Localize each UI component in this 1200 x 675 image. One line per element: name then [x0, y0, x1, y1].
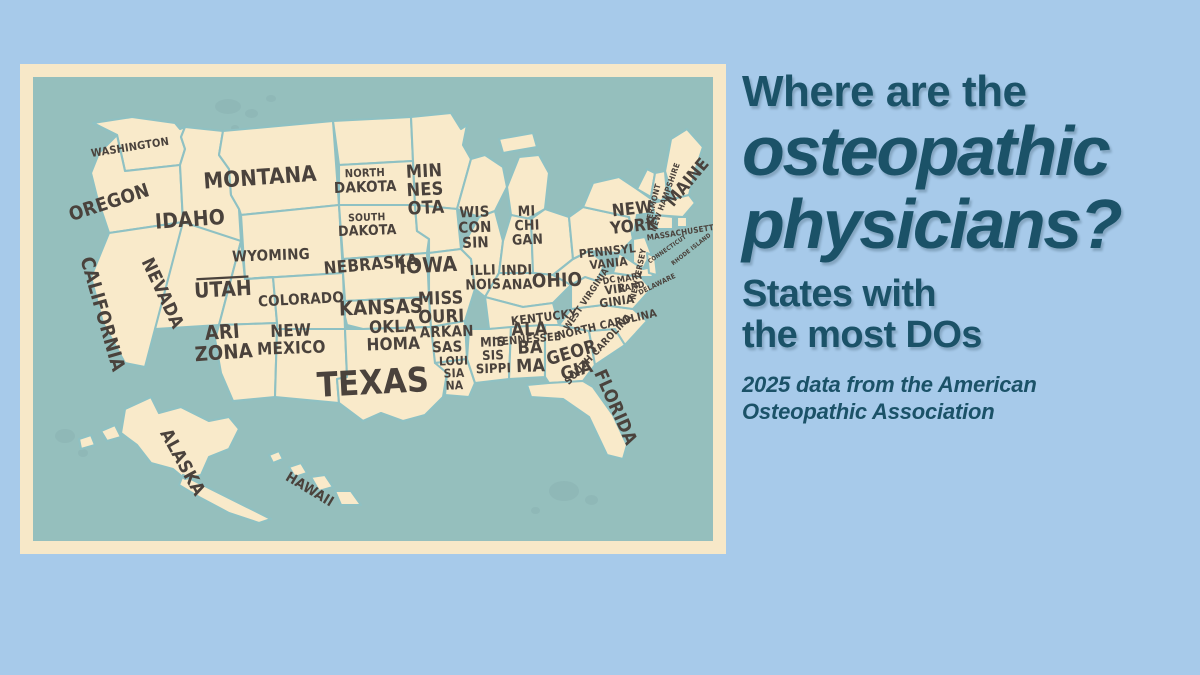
state-label-text: NA [445, 378, 464, 393]
state-label-hawaii: HAWAII [283, 469, 337, 510]
state-label-text: ZONA [194, 338, 254, 366]
state-label-text: OTA [407, 197, 445, 220]
state-label-text: NOIS [465, 276, 501, 293]
credit-line-2: Osteopathic Association [742, 398, 1194, 426]
credit-line-1: 2025 data from the American [742, 371, 1194, 399]
subtitle-line-1: States with [742, 274, 1194, 314]
state-label-idaho: IDAHO [154, 205, 226, 234]
state-label-text: DAKOTA [334, 177, 398, 197]
state-label-text: MA [516, 355, 546, 377]
state-label-minnesota: MINNESOTA [405, 160, 445, 220]
state-label-utah: UTAH [194, 276, 253, 303]
state-label-text: OHIO [531, 269, 582, 293]
us-states-map: WASHINGTONOREGONCALIFORNIANEVADAIDAHOMON… [33, 77, 713, 541]
state-label-text: SIN [462, 233, 489, 252]
state-label-iowa: IOWA [398, 252, 458, 279]
map-poster: WASHINGTONOREGONCALIFORNIANEVADAIDAHOMON… [20, 64, 726, 554]
state-label-wisconsin: WISCONSIN [458, 202, 493, 252]
headline-column: Where are the osteopathic physicians? St… [742, 70, 1194, 426]
state-label-text: ANA [502, 277, 533, 294]
state-label-oklahoma: OKLAHOMA [366, 316, 421, 355]
state-label-text: HAWAII [283, 469, 337, 510]
state-label-wyoming: WYOMING [232, 245, 310, 266]
state-label-text: DAKOTA [338, 222, 397, 240]
state-label-text: GAN [512, 232, 544, 249]
state-label-ohio: OHIO [531, 269, 582, 293]
data-source-credit: 2025 data from the American Osteopathic … [742, 371, 1194, 426]
headline-emphasis-2: physicians? [742, 190, 1194, 259]
state-label-indiana: INDIANA [501, 262, 533, 293]
state-label-texas: TEXAS [316, 360, 430, 406]
state-label-text: TEXAS [316, 360, 430, 406]
state-label-text: WYOMING [232, 245, 310, 266]
map-ocean-background: WASHINGTONOREGONCALIFORNIANEVADAIDAHOMON… [33, 77, 713, 541]
state-label-text: IOWA [398, 252, 458, 279]
state-label-text: SIPPI [476, 361, 512, 377]
headline-emphasis-1: osteopathic [742, 117, 1194, 186]
state-label-text: HOMA [366, 334, 420, 356]
state-label-text: IDAHO [154, 205, 226, 234]
state-label-text: MEXICO [257, 337, 326, 359]
subtitle-line-2: the most DOs [742, 315, 1194, 355]
headline-line-1: Where are the [742, 70, 1194, 113]
